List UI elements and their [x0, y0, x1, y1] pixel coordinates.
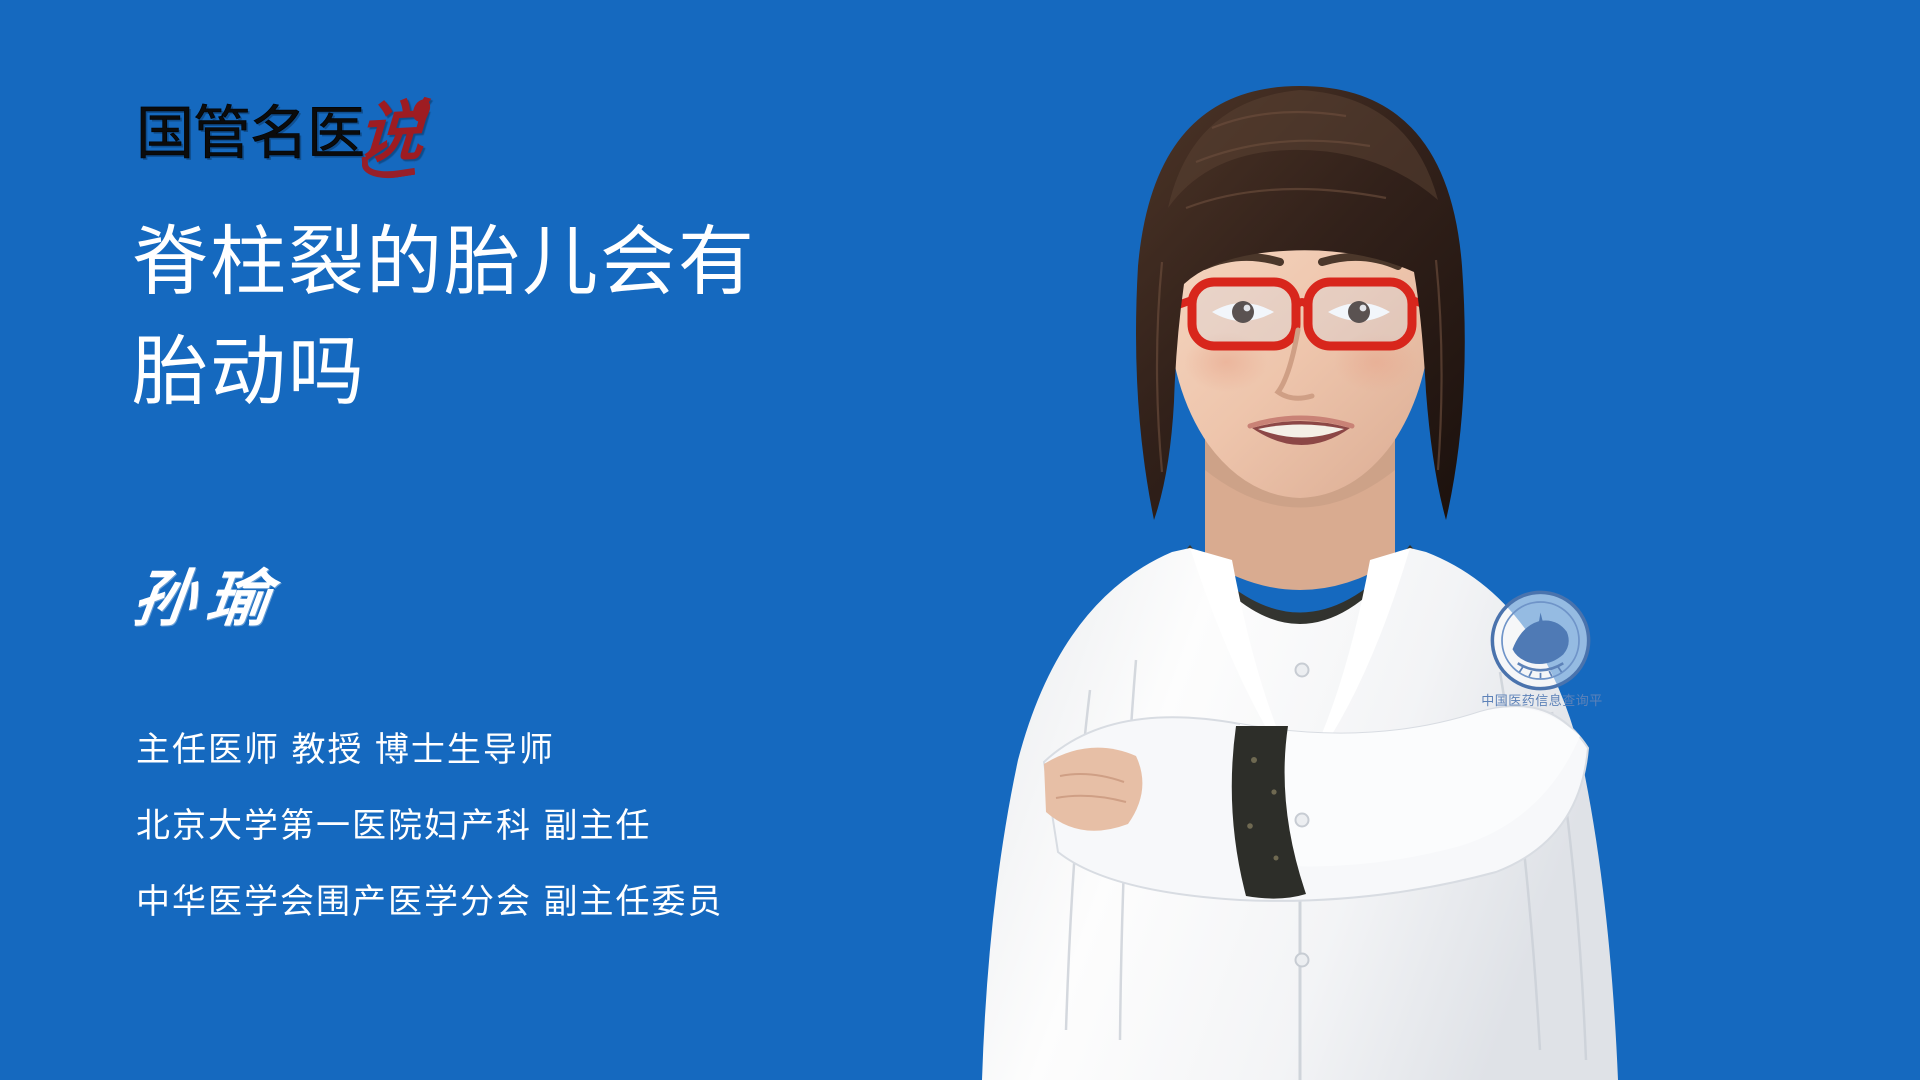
title-line-1: 脊柱裂的胎儿会有	[132, 208, 1032, 318]
hand	[1044, 748, 1142, 831]
portrait-illustration	[940, 0, 1660, 1080]
brand-logo-accent-char: 说	[356, 103, 425, 164]
title-line-2: 胎动吗	[132, 318, 1032, 428]
doctor-signature-name: 孙瑜	[128, 548, 287, 638]
coat-button-3	[1296, 954, 1309, 967]
doctor-portrait-photo	[940, 0, 1660, 1080]
coat-button-1	[1296, 664, 1309, 677]
credential-line-2: 北京大学第一医院妇产科 副主任	[136, 788, 1036, 864]
coat-button-2	[1296, 814, 1309, 827]
video-cover-slide: 国管名医 说 脊柱裂的胎儿会有 胎动吗 孙瑜 主任医师 教授 博士生导师 北京大…	[0, 0, 1920, 1080]
credential-line-3: 中华医学会围产医学分会 副主任委员	[136, 864, 1036, 940]
glasses-lens-left	[1192, 282, 1296, 346]
glasses-bridge	[1296, 302, 1308, 306]
glasses-lens-right	[1308, 282, 1412, 346]
page-title: 脊柱裂的胎儿会有 胎动吗	[132, 208, 1032, 428]
doctor-credentials: 主任医师 教授 博士生导师 北京大学第一医院妇产科 副主任 中华医学会围产医学分…	[136, 712, 1036, 940]
badge-caption-text: 中国医药信息查询平	[1457, 690, 1627, 709]
brand-logo: 国管名医 说	[136, 93, 424, 163]
brand-logo-text: 国管名医	[136, 105, 364, 163]
credential-line-1: 主任医师 教授 博士生导师	[136, 712, 1036, 788]
